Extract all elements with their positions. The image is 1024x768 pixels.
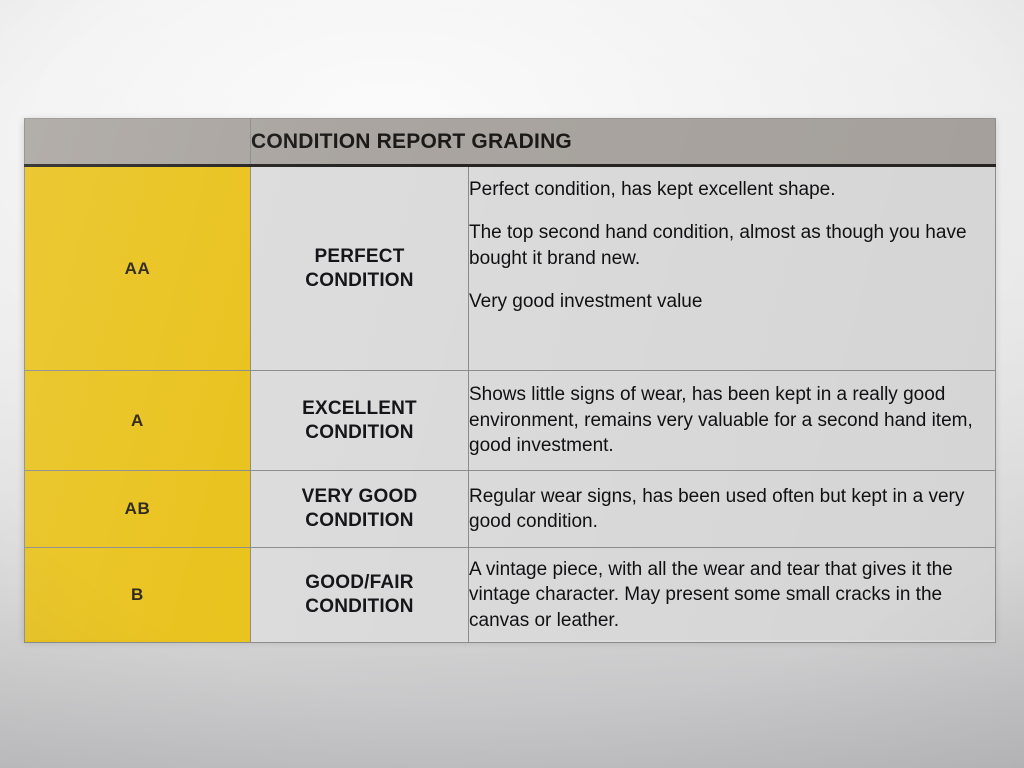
table-row: B GOOD/FAIR CONDITION A vintage piece, w… — [25, 548, 996, 643]
condition-label-line-2: CONDITION — [251, 509, 468, 533]
condition-label-cell-b: GOOD/FAIR CONDITION — [251, 548, 469, 643]
table-row: AB VERY GOOD CONDITION Regular wear sign… — [25, 471, 996, 548]
condition-label-cell-aa: PERFECT CONDITION — [251, 166, 469, 371]
description-paragraph: Perfect condition, has kept excellent sh… — [469, 177, 995, 202]
header-spacer-cell — [25, 119, 251, 166]
condition-label-line-1: GOOD/FAIR — [251, 571, 468, 595]
table-title: CONDITION REPORT GRADING — [251, 119, 996, 166]
condition-label-line-2: CONDITION — [251, 421, 468, 445]
grade-label: B — [131, 585, 144, 604]
condition-report-table-container: CONDITION REPORT GRADING AA PERFECT COND… — [24, 118, 995, 640]
description-paragraph: A vintage piece, with all the wear and t… — [469, 557, 995, 633]
table-header-row: CONDITION REPORT GRADING — [25, 119, 996, 166]
grade-cell-ab: AB — [25, 471, 251, 548]
grade-cell-aa: AA — [25, 166, 251, 371]
condition-label-cell-ab: VERY GOOD CONDITION — [251, 471, 469, 548]
description-cell-aa: Perfect condition, has kept excellent sh… — [469, 166, 996, 371]
grade-label: AA — [125, 259, 151, 278]
condition-label-cell-a: EXCELLENT CONDITION — [251, 371, 469, 471]
condition-label-line-2: CONDITION — [251, 595, 468, 619]
condition-label-line-1: EXCELLENT — [251, 397, 468, 421]
condition-label-line-1: PERFECT — [251, 245, 468, 269]
description-cell-a: Shows little signs of wear, has been kep… — [469, 371, 996, 471]
description-paragraph: The top second hand condition, almost as… — [469, 220, 995, 271]
table-row: AA PERFECT CONDITION Perfect condition, … — [25, 166, 996, 371]
description-cell-ab: Regular wear signs, has been used often … — [469, 471, 996, 548]
condition-label-line-2: CONDITION — [251, 269, 468, 293]
description-paragraph: Shows little signs of wear, has been kep… — [469, 382, 995, 458]
table-row: A EXCELLENT CONDITION Shows little signs… — [25, 371, 996, 471]
grade-cell-a: A — [25, 371, 251, 471]
condition-report-grading-table: CONDITION REPORT GRADING AA PERFECT COND… — [24, 118, 996, 643]
grade-cell-b: B — [25, 548, 251, 643]
description-cell-b: A vintage piece, with all the wear and t… — [469, 548, 996, 643]
description-paragraph: Very good investment value — [469, 289, 995, 314]
grade-label: AB — [125, 499, 151, 518]
condition-label-line-1: VERY GOOD — [251, 485, 468, 509]
description-paragraph: Regular wear signs, has been used often … — [469, 484, 995, 535]
grade-label: A — [131, 411, 144, 430]
